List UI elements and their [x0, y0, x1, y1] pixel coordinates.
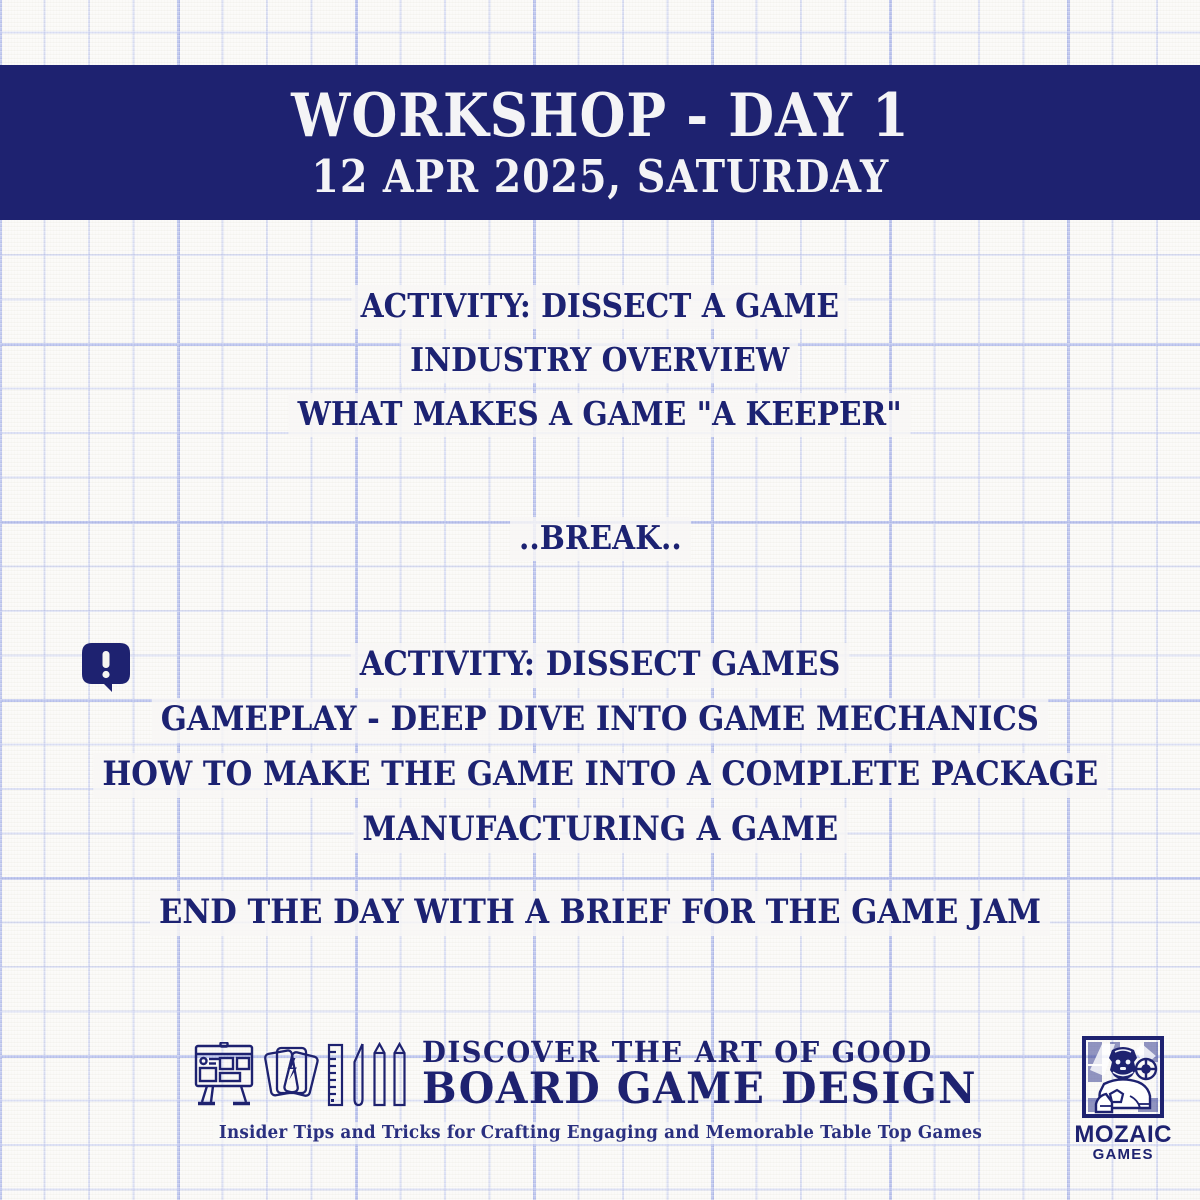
header-banner: WORKSHOP - DAY 1 12 APR 2025, SATURDAY	[0, 65, 1200, 220]
banner-date: 12 APR 2025, SATURDAY	[311, 154, 889, 199]
craft-knife-icon	[351, 1042, 366, 1108]
logo-subtitle: GAMES	[1093, 1147, 1154, 1163]
afternoon-session-block: ACTIVITY: DISSECT GAMES GAMEPLAY - DEEP …	[37, 638, 1164, 858]
mozaic-lion-mosaic-icon	[1082, 1036, 1164, 1118]
footer-icon-row	[193, 1042, 406, 1108]
schedule-item: WHAT MAKES A GAME "A KEEPER"	[289, 393, 911, 437]
pencil-icon	[373, 1042, 386, 1108]
closing-row: END THE DAY WITH A BRIEF FOR THE GAME JA…	[100, 891, 1100, 936]
pencil-icon	[393, 1042, 406, 1108]
schedule-item: ACTIVITY: DISSECT A GAME	[352, 285, 848, 329]
schedule-content: ACTIVITY: DISSECT A GAME INDUSTRY OVERVI…	[0, 220, 1200, 1030]
closing-item: END THE DAY WITH A BRIEF FOR THE GAME JA…	[150, 891, 1050, 936]
mozaic-games-logo: MOZAIC GAMES	[1074, 1036, 1172, 1163]
footer: DISCOVER THE ART OF GOOD BOARD GAME DESI…	[0, 1030, 1200, 1200]
schedule-item: ACTIVITY: DISSECT GAMES	[351, 643, 850, 688]
footer-tagline: Insider Tips and Tricks for Crafting Eng…	[213, 1122, 988, 1144]
schedule-item: INDUSTRY OVERVIEW	[401, 339, 798, 383]
schedule-item: GAMEPLAY - DEEP DIVE INTO GAME MECHANICS	[152, 698, 1048, 743]
footer-branding: DISCOVER THE ART OF GOOD BOARD GAME DESI…	[193, 1038, 1006, 1144]
break-row: ..BREAK..	[500, 517, 701, 561]
break-label: ..BREAK..	[510, 517, 691, 561]
footer-headline: DISCOVER THE ART OF GOOD BOARD GAME DESI…	[422, 1038, 1006, 1111]
footer-headline-line2: BOARD GAME DESIGN	[422, 1068, 977, 1112]
logo-name: MOZAIC	[1074, 1122, 1172, 1147]
schedule-item: HOW TO MAKE THE GAME INTO A COMPLETE PAC…	[93, 753, 1107, 798]
banner-title: WORKSHOP - DAY 1	[291, 86, 909, 146]
playing-cards-icon	[262, 1042, 320, 1108]
morning-session-block: ACTIVITY: DISSECT A GAME INDUSTRY OVERVI…	[254, 280, 945, 442]
ruler-icon	[327, 1042, 344, 1108]
schedule-item: MANUFACTURING A GAME	[353, 808, 847, 853]
game-board-easel-icon	[193, 1042, 255, 1108]
exclamation-speech-bubble-icon	[82, 643, 130, 697]
